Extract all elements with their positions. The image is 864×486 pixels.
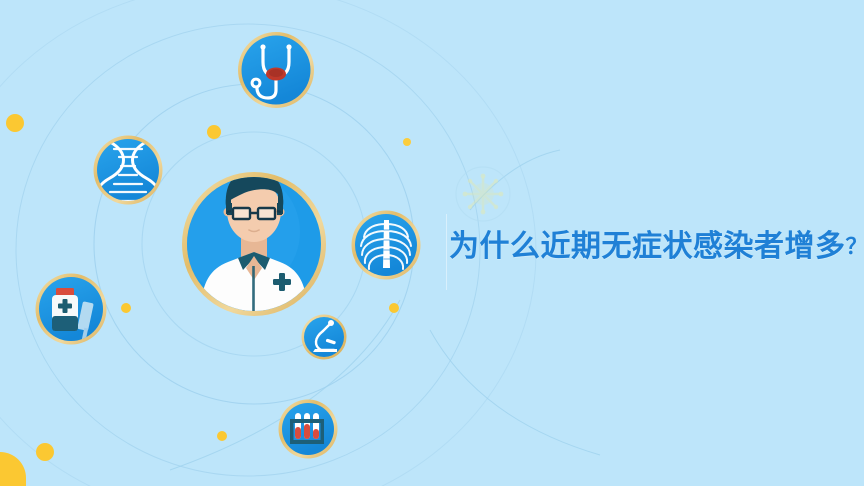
headline-question-mark: ？ [846,235,864,260]
dot-top-left [6,114,24,132]
rack-bottom-bar [290,440,324,444]
virus-watermark [456,167,510,221]
dot-bottom-inner [217,431,227,441]
dot-orbit-top [207,125,221,139]
headline-text: 为什么近期无症状感染者增多 [449,229,846,264]
sternum-shape [383,220,390,268]
dot-orbit-left [121,303,131,313]
infographic-canvas: 为什么近期无症状感染者增多？ [0,0,864,486]
node-test-tubes[interactable] [279,400,338,459]
node-rib-cage[interactable] [352,211,421,280]
node-stethoscope[interactable] [238,32,314,108]
rack-top-bar [290,419,324,423]
dot-bottom-left [36,443,54,461]
bottle-base [52,316,78,331]
node-medicine-bottle[interactable] [36,274,107,345]
bottle-cap [56,288,74,296]
coat-seam [252,266,255,312]
text-divider-line [446,214,447,290]
page-title: 为什么近期无症状感染者增多？ [449,232,864,262]
node-microscope[interactable] [302,315,347,360]
dot-orbit-upper-right [403,138,411,146]
tube-group [295,413,319,439]
rack-right-leg [321,419,325,444]
rack-left-leg [290,419,294,444]
dot-orbit-right [389,303,399,313]
